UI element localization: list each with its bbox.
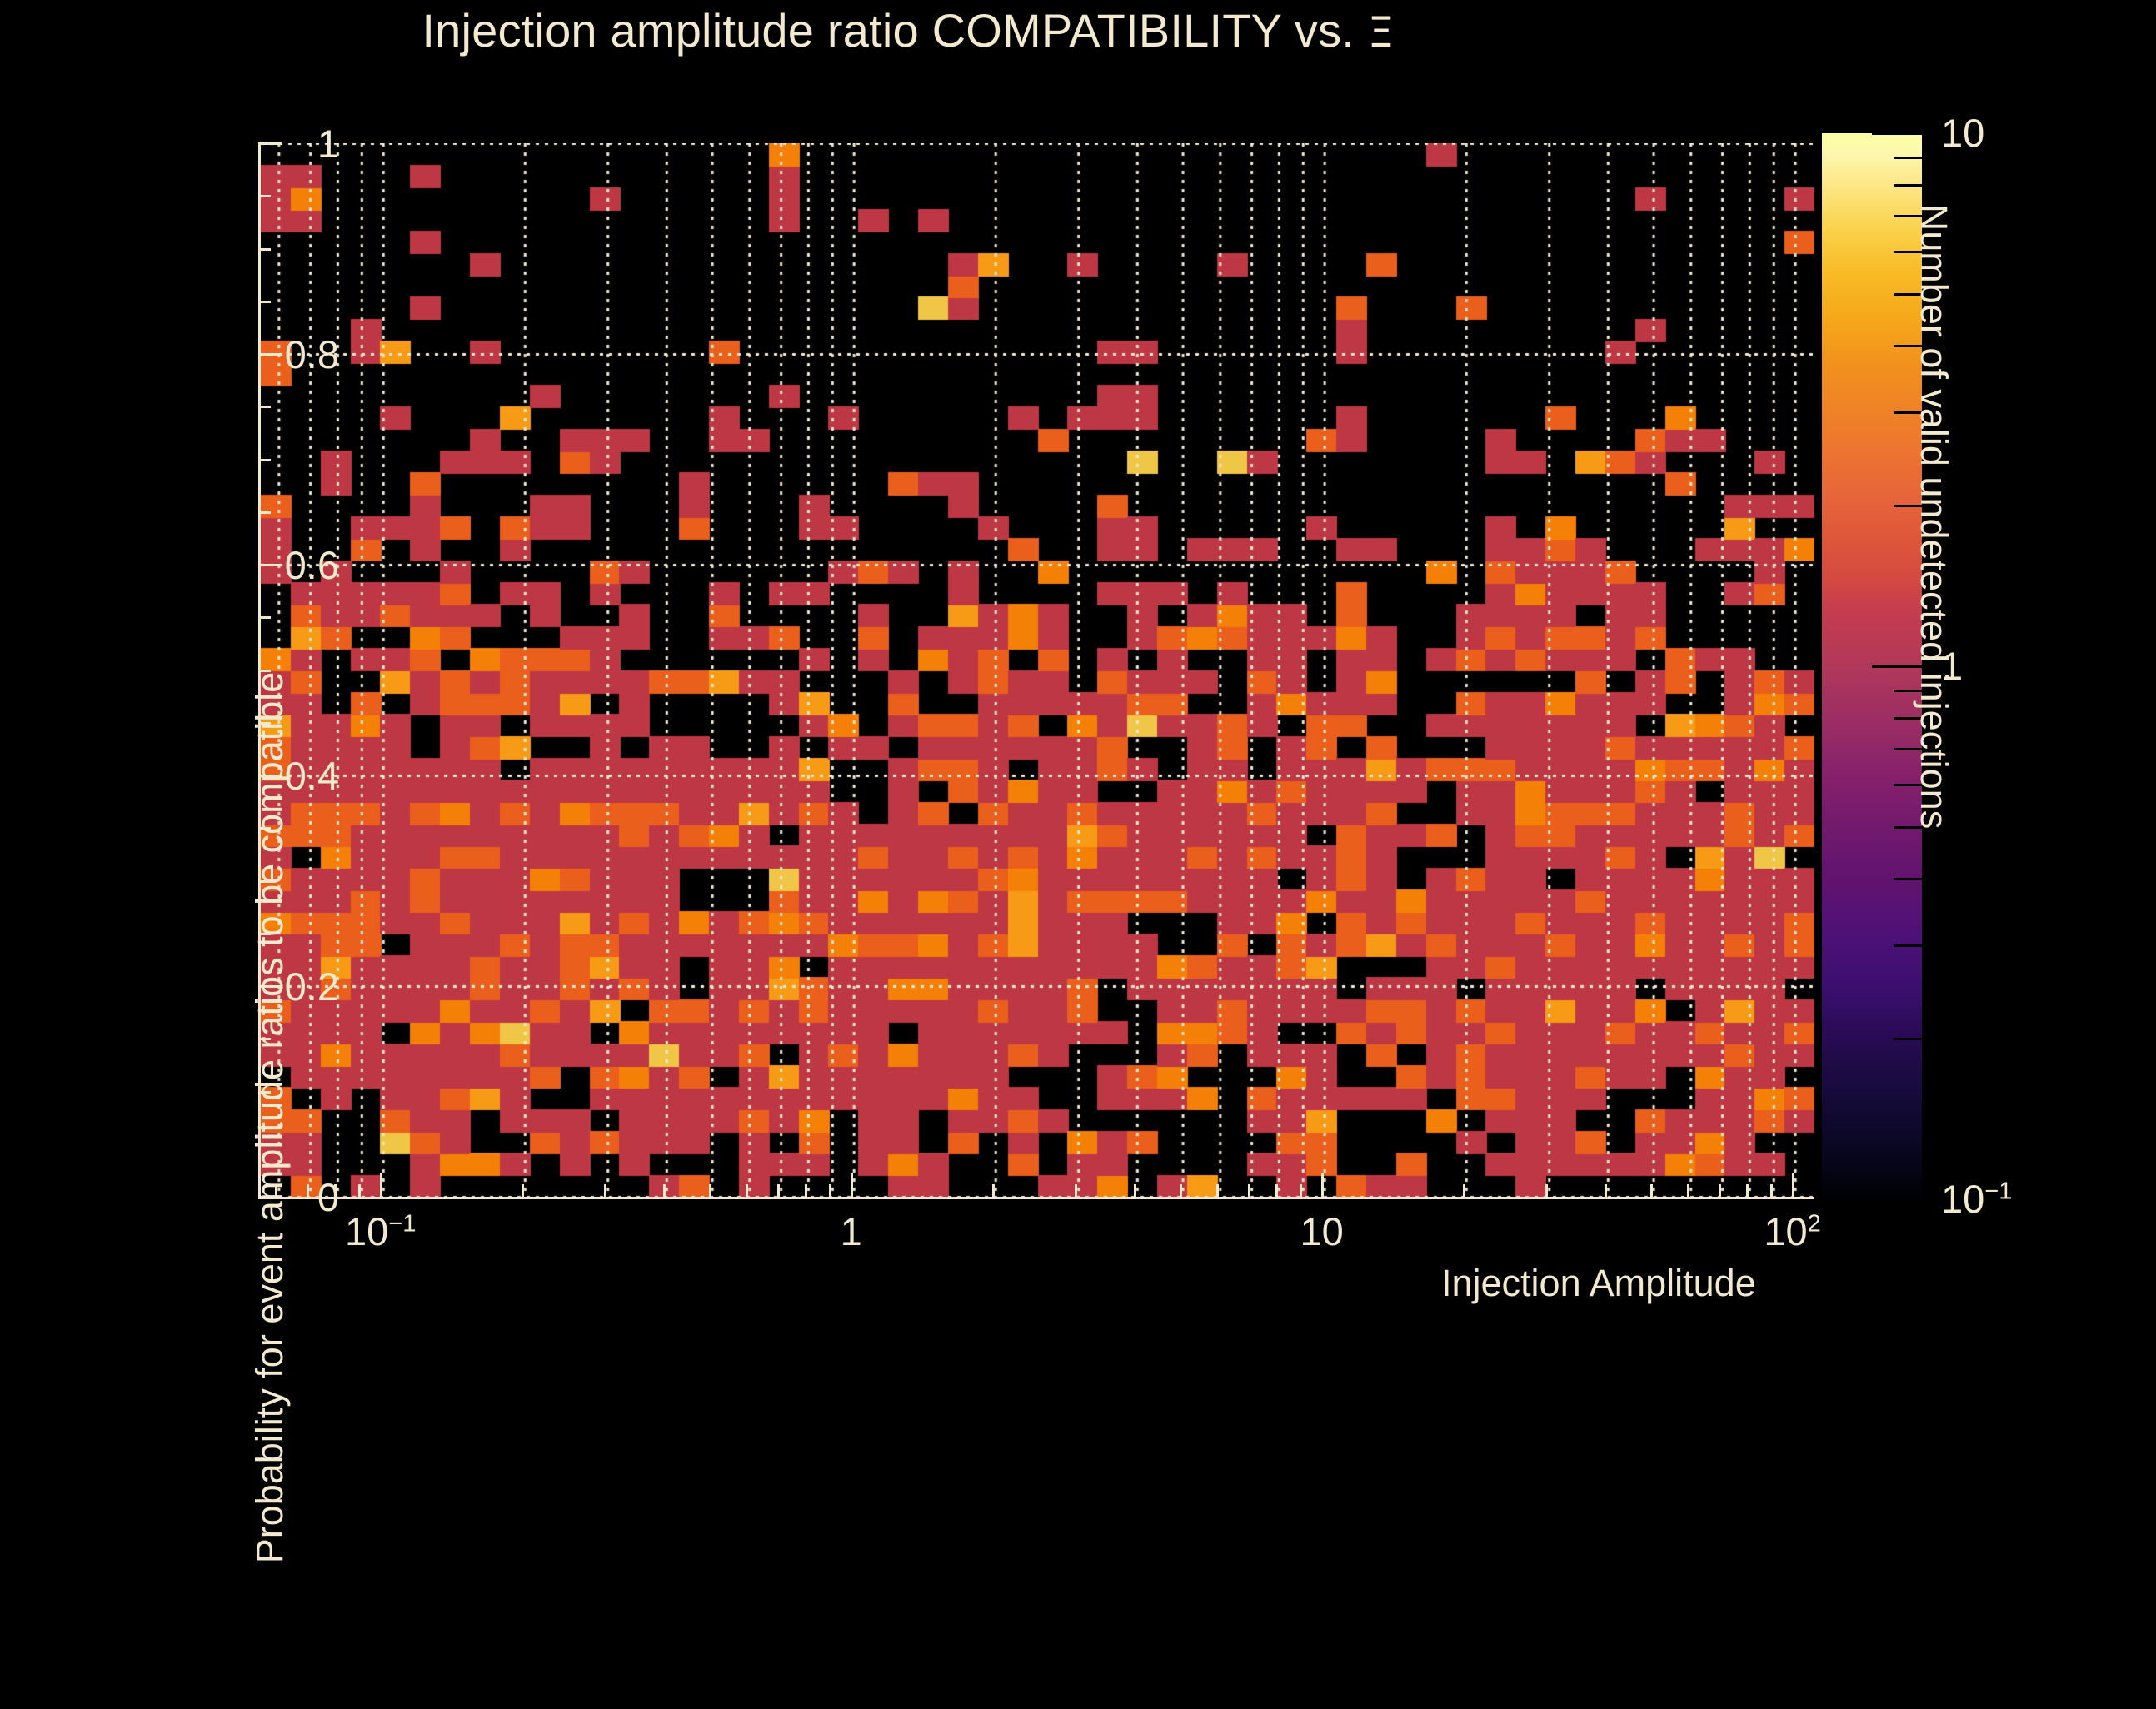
tick-mark <box>1545 1184 1548 1197</box>
tick-mark <box>746 1184 748 1197</box>
tick-mark <box>604 1184 606 1197</box>
y-tick-label: 0.6 <box>285 542 339 588</box>
tick-mark <box>709 1184 711 1197</box>
tick-mark <box>1792 1173 1794 1197</box>
tick-mark <box>1180 1184 1182 1197</box>
tick-mark <box>829 1184 831 1197</box>
tick-mark <box>358 1184 361 1197</box>
plot-root: Injection amplitude ratio COMPATIBILITY … <box>0 0 2156 1333</box>
tick-mark <box>334 1184 337 1197</box>
y-tick-label: 0 <box>317 1174 339 1220</box>
colorbar-tick-exponent: −1 <box>1984 1178 2012 1204</box>
tick-mark <box>1770 1184 1773 1197</box>
tick-mark <box>1605 1184 1607 1197</box>
x-tick-mantissa: 10 <box>345 1209 388 1253</box>
tick-mark <box>380 1173 382 1197</box>
tick-mark <box>258 195 271 197</box>
x-tick-label: 10−1 <box>345 1208 417 1254</box>
tick-mark <box>258 248 271 251</box>
tick-mark <box>1321 1173 1324 1197</box>
tick-mark <box>258 406 271 408</box>
tick-mark <box>258 459 271 461</box>
tick-mark <box>1650 1184 1653 1197</box>
y-axis-title: Probability for event amplitude ratios t… <box>248 526 292 1709</box>
tick-mark <box>663 1184 666 1197</box>
colorbar-tick <box>1894 944 1922 947</box>
tick-mark <box>1719 1184 1721 1197</box>
y-tick-label: 0.8 <box>285 331 339 377</box>
x-axis-title: Injection Amplitude <box>1441 1262 1756 1305</box>
tick-mark <box>258 511 271 514</box>
tick-mark <box>258 301 271 303</box>
plot-title-text: Injection amplitude ratio COMPATIBILITY … <box>422 4 1367 57</box>
tick-mark <box>1134 1184 1136 1197</box>
colorbar[interactable] <box>1822 133 1922 1199</box>
tick-mark <box>1300 1184 1302 1197</box>
x-tick-label: 10 <box>1300 1208 1343 1254</box>
colorbar-tick <box>1872 1198 1922 1201</box>
y-tick-label: 1 <box>317 121 339 167</box>
colorbar-title: Number of valid undetected injections <box>1912 92 1955 941</box>
tick-mark <box>777 1184 780 1197</box>
heatmap-canvas[interactable] <box>261 143 1814 1197</box>
tick-mark <box>1275 1184 1278 1197</box>
y-tick-label: 0.4 <box>285 753 339 799</box>
tick-mark <box>1687 1184 1689 1197</box>
tick-mark <box>522 1184 524 1197</box>
tick-mark <box>805 1184 807 1197</box>
x-tick-label: 1 <box>841 1208 862 1254</box>
tick-mark <box>851 1173 853 1197</box>
x-tick-mantissa: 10 <box>1764 1209 1807 1253</box>
tick-mark <box>1075 1184 1077 1197</box>
plot-area[interactable] <box>258 143 1814 1199</box>
x-tick-label: 102 <box>1764 1208 1820 1254</box>
xi-symbol: Ξ <box>1368 8 1395 57</box>
colorbar-tick-mantissa: 10 <box>1941 1177 1984 1221</box>
tick-mark <box>307 1184 309 1197</box>
tick-mark <box>258 142 282 145</box>
x-tick-mantissa: 10 <box>1300 1209 1343 1253</box>
tick-mark <box>258 353 282 356</box>
x-tick-mantissa: 1 <box>841 1209 862 1253</box>
tick-mark <box>992 1184 995 1197</box>
colorbar-tick <box>1894 1038 1922 1040</box>
tick-mark <box>1746 1184 1749 1197</box>
tick-mark <box>1248 1184 1250 1197</box>
tick-mark <box>1463 1184 1465 1197</box>
x-tick-exponent: 2 <box>1808 1210 1821 1237</box>
x-tick-exponent: −1 <box>388 1210 416 1237</box>
colorbar-tick-label: 10−1 <box>1941 1176 2013 1222</box>
tick-mark <box>1216 1184 1219 1197</box>
page-title: Injection amplitude ratio COMPATIBILITY … <box>0 3 1816 57</box>
y-tick-label: 0.2 <box>285 964 339 1009</box>
